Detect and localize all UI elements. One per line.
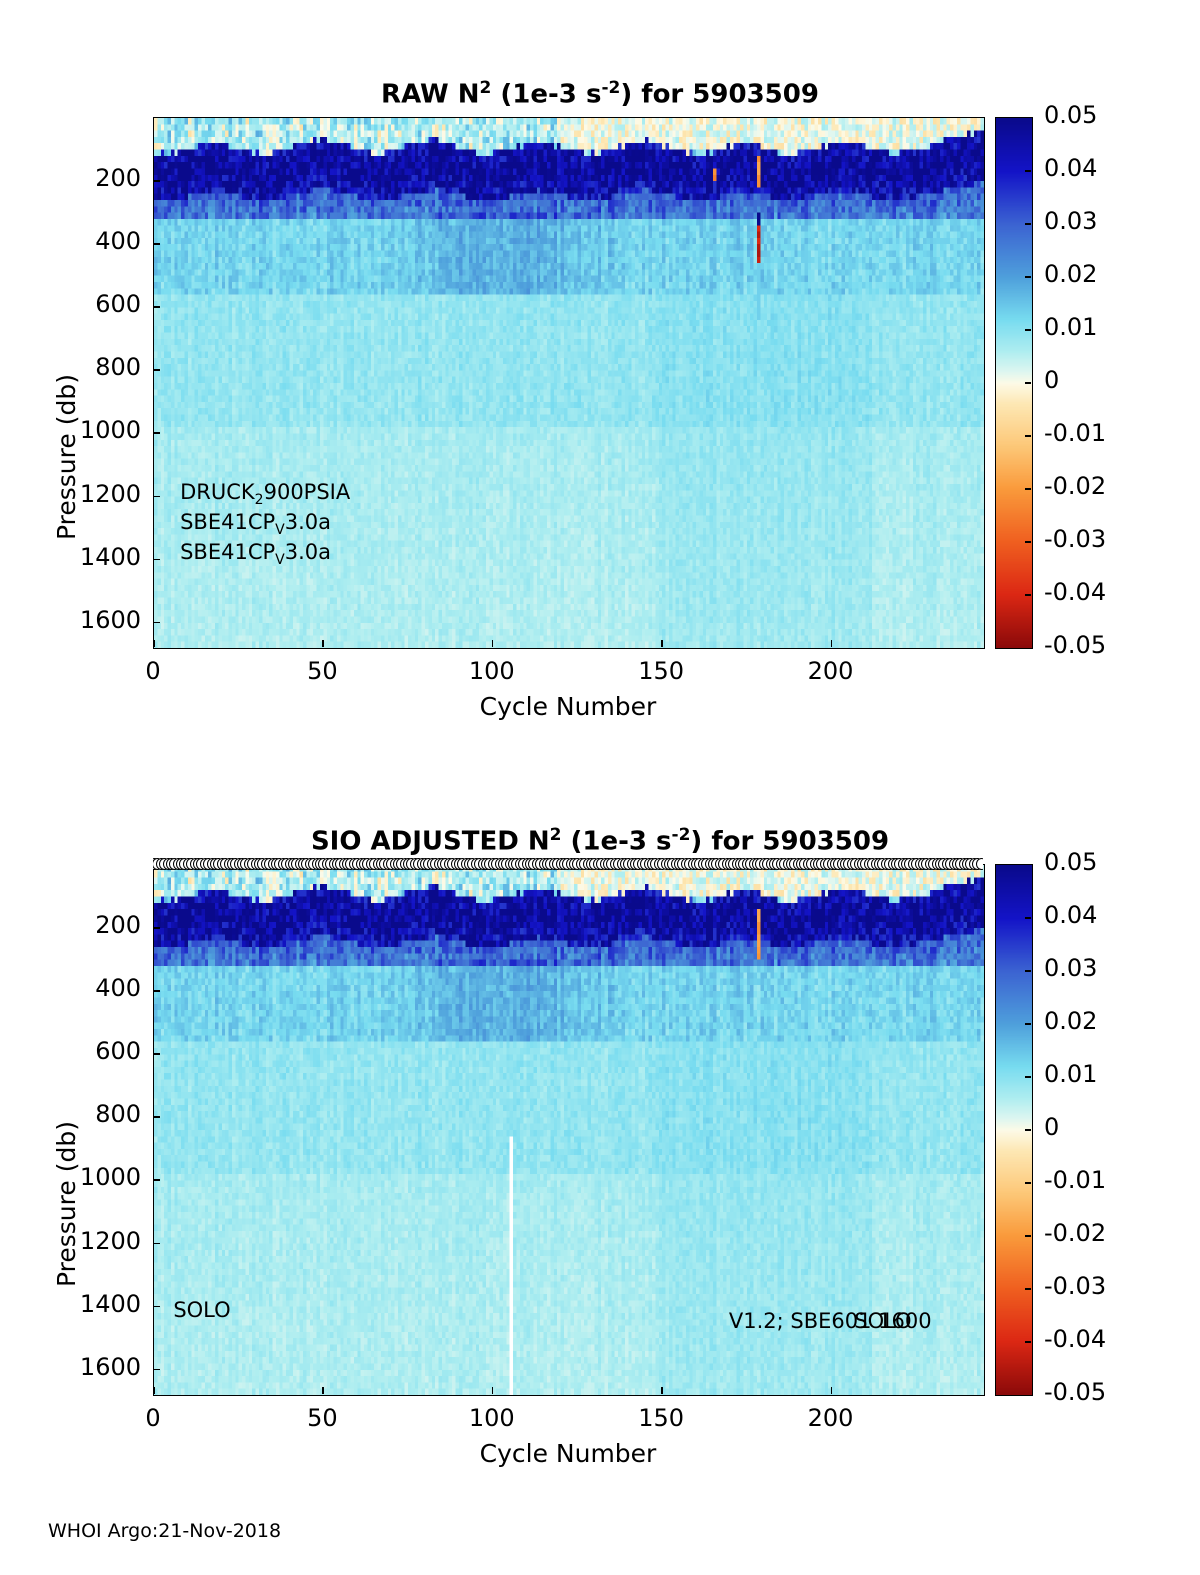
adjusted-title-sup1: 2 [550, 825, 562, 845]
y-tickmark [153, 1369, 160, 1371]
colorbar-tick-0.05: 0.05 [1044, 848, 1097, 876]
colorbar-tickmark [1025, 488, 1031, 490]
sbe-label-2-suffix: 3.0a [285, 540, 331, 564]
y-tickmark [153, 990, 160, 992]
y-tickmark [153, 180, 160, 182]
x-tickmark [831, 1387, 833, 1394]
colorbar-tickmark [1025, 594, 1031, 596]
y-axis-tick-1000: 1000 [53, 416, 141, 444]
sbe-label-1: SBE41CPV3.0a [180, 510, 331, 538]
y-tickmark [153, 1053, 160, 1055]
y-tickmark [153, 369, 160, 371]
raw-y-axis-label: Pressure (db) [52, 374, 81, 540]
y-tickmark [153, 1243, 160, 1245]
x-tickmark [492, 1387, 494, 1394]
colorbar-tick-0.02: 0.02 [1044, 1007, 1097, 1035]
raw-title-prefix: RAW N [381, 80, 479, 110]
raw-title-mid: (1e-3 s [491, 80, 601, 110]
sbe-label-1-subscript: V [275, 522, 285, 538]
colorbar-tick--0.03: -0.03 [1044, 1272, 1106, 1300]
x-axis-tick-100: 100 [452, 657, 532, 685]
x-axis-tick-200: 200 [791, 1404, 871, 1432]
druck-label: DRUCK2900PSIA [180, 480, 350, 508]
adjusted-title-prefix: SIO ADJUSTED N [311, 827, 550, 857]
colorbar-tick-0.01: 0.01 [1044, 1060, 1097, 1088]
x-tickmark [322, 1387, 324, 1394]
x-axis-tick-0: 0 [113, 657, 193, 685]
colorbar-tickmark [1025, 1288, 1031, 1290]
colorbar-tickmark [1025, 329, 1031, 331]
sbe-label-1-text: SBE41CP [180, 510, 275, 534]
colorbar-tick-0.03: 0.03 [1044, 954, 1097, 982]
colorbar-tickmark [1025, 970, 1031, 972]
colorbar-tick--0.03: -0.03 [1044, 525, 1106, 553]
x-axis-tick-50: 50 [282, 657, 362, 685]
x-tickmark [153, 640, 155, 647]
y-axis-tick-1200: 1200 [53, 1227, 141, 1255]
x-tickmark [661, 1387, 663, 1394]
y-axis-tick-800: 800 [53, 353, 141, 381]
y-tickmark [153, 1306, 160, 1308]
x-tickmark [831, 640, 833, 647]
colorbar-tick--0.05: -0.05 [1044, 1378, 1106, 1406]
colorbar-tick--0.02: -0.02 [1044, 472, 1106, 500]
colorbar-tick--0.01: -0.01 [1044, 1166, 1106, 1194]
colorbar-tickmark [1025, 1341, 1031, 1343]
panel-adjusted: SIO ADJUSTED N2 (1e-3 s-2) for 5903509 P… [0, 745, 1200, 1535]
y-axis-tick-200: 200 [53, 164, 141, 192]
sbe-label-2-subscript: V [275, 552, 285, 568]
colorbar-tick-0.04: 0.04 [1044, 154, 1097, 182]
y-axis-tick-800: 800 [53, 1100, 141, 1128]
y-axis-tick-600: 600 [53, 1037, 141, 1065]
colorbar-tickmark [1025, 1023, 1031, 1025]
y-axis-tick-600: 600 [53, 290, 141, 318]
profile-marker [976, 858, 983, 870]
x-axis-tick-50: 50 [282, 1404, 362, 1432]
y-tickmark [153, 1179, 160, 1181]
panel-raw: RAW N2 (1e-3 s-2) for 5903509 Pressure (… [0, 0, 1200, 790]
y-axis-tick-400: 400 [53, 227, 141, 255]
colorbar-tickmark [1025, 917, 1031, 919]
x-tickmark [153, 1387, 155, 1394]
raw-plot-title: RAW N2 (1e-3 s-2) for 5903509 [0, 78, 1200, 110]
solo-overlap-label: SOLO [854, 1309, 911, 1333]
adjusted-title-sup2: -2 [672, 825, 691, 845]
y-tickmark [153, 927, 160, 929]
sbe-label-1-suffix: 3.0a [285, 510, 331, 534]
colorbar-tick--0.02: -0.02 [1044, 1219, 1106, 1247]
y-axis-tick-1400: 1400 [53, 543, 141, 571]
colorbar-tickmark [1025, 1235, 1031, 1237]
x-axis-tick-200: 200 [791, 657, 871, 685]
colorbar-tick--0.01: -0.01 [1044, 419, 1106, 447]
druck-label-text: DRUCK [180, 480, 255, 504]
druck-label-suffix: 900PSIA [264, 480, 351, 504]
x-axis-tick-150: 150 [621, 657, 701, 685]
figure-footer: WHOI Argo:21-Nov-2018 [48, 1520, 281, 1542]
raw-title-suffix: ) for 5903509 [620, 80, 819, 110]
x-tickmark [661, 640, 663, 647]
y-tickmark [153, 432, 160, 434]
colorbar-tickmark [1025, 170, 1031, 172]
sbe-label-2-text: SBE41CP [180, 540, 275, 564]
colorbar-tickmark [1025, 541, 1031, 543]
colorbar-tickmark [1025, 276, 1031, 278]
colorbar-tick-0.02: 0.02 [1044, 260, 1097, 288]
solo-label: SOLO [173, 1298, 230, 1322]
x-axis-tick-0: 0 [113, 1404, 193, 1432]
adjusted-y-axis-label: Pressure (db) [52, 1121, 81, 1287]
y-axis-tick-200: 200 [53, 911, 141, 939]
x-axis-tick-150: 150 [621, 1404, 701, 1432]
colorbar-tick--0.04: -0.04 [1044, 1325, 1106, 1353]
y-axis-tick-1600: 1600 [53, 606, 141, 634]
solo-overlap-label-text: SOLO [854, 1309, 911, 1333]
x-tickmark [322, 640, 324, 647]
adjusted-title-suffix: ) for 5903509 [690, 827, 889, 857]
x-tickmark [492, 640, 494, 647]
colorbar-tick-0.05: 0.05 [1044, 101, 1097, 129]
raw-heatmap-canvas [154, 118, 984, 648]
y-tickmark [153, 622, 160, 624]
raw-title-sup2: -2 [601, 78, 620, 98]
y-axis-tick-1600: 1600 [53, 1353, 141, 1381]
colorbar-tickmark [1025, 382, 1031, 384]
colorbar-tick--0.05: -0.05 [1044, 631, 1106, 659]
x-axis-tick-100: 100 [452, 1404, 532, 1432]
colorbar-tickmark [1025, 435, 1031, 437]
colorbar-tickmark [1025, 223, 1031, 225]
y-axis-tick-400: 400 [53, 974, 141, 1002]
sbe-label-2: SBE41CPV3.0a [180, 540, 331, 568]
colorbar-tickmark [1025, 1129, 1031, 1131]
y-axis-tick-1400: 1400 [53, 1290, 141, 1318]
raw-x-axis-label: Cycle Number [153, 692, 983, 721]
y-tickmark [153, 496, 160, 498]
y-tickmark [153, 1116, 160, 1118]
adjusted-plot-title: SIO ADJUSTED N2 (1e-3 s-2) for 5903509 [0, 825, 1200, 857]
colorbar-tick-0.01: 0.01 [1044, 313, 1097, 341]
raw-title-sup1: 2 [480, 78, 492, 98]
colorbar-tick-0: 0 [1044, 366, 1059, 394]
adjusted-title-mid: (1e-3 s [561, 827, 671, 857]
y-axis-tick-1000: 1000 [53, 1163, 141, 1191]
y-tickmark [153, 243, 160, 245]
colorbar-tickmark [1025, 1076, 1031, 1078]
colorbar-tick-0.03: 0.03 [1044, 207, 1097, 235]
adjusted-x-axis-label: Cycle Number [153, 1439, 983, 1468]
adjusted-profile-marker-band [153, 857, 983, 870]
y-tickmark [153, 559, 160, 561]
raw-heatmap-axes [153, 117, 985, 649]
colorbar-tick--0.04: -0.04 [1044, 578, 1106, 606]
druck-label-subscript: 2 [255, 492, 264, 508]
y-axis-tick-1200: 1200 [53, 480, 141, 508]
y-tickmark [153, 306, 160, 308]
solo-label-text: SOLO [173, 1298, 230, 1322]
colorbar-tickmark [1025, 1182, 1031, 1184]
colorbar-tick-0: 0 [1044, 1113, 1059, 1141]
colorbar-tick-0.04: 0.04 [1044, 901, 1097, 929]
